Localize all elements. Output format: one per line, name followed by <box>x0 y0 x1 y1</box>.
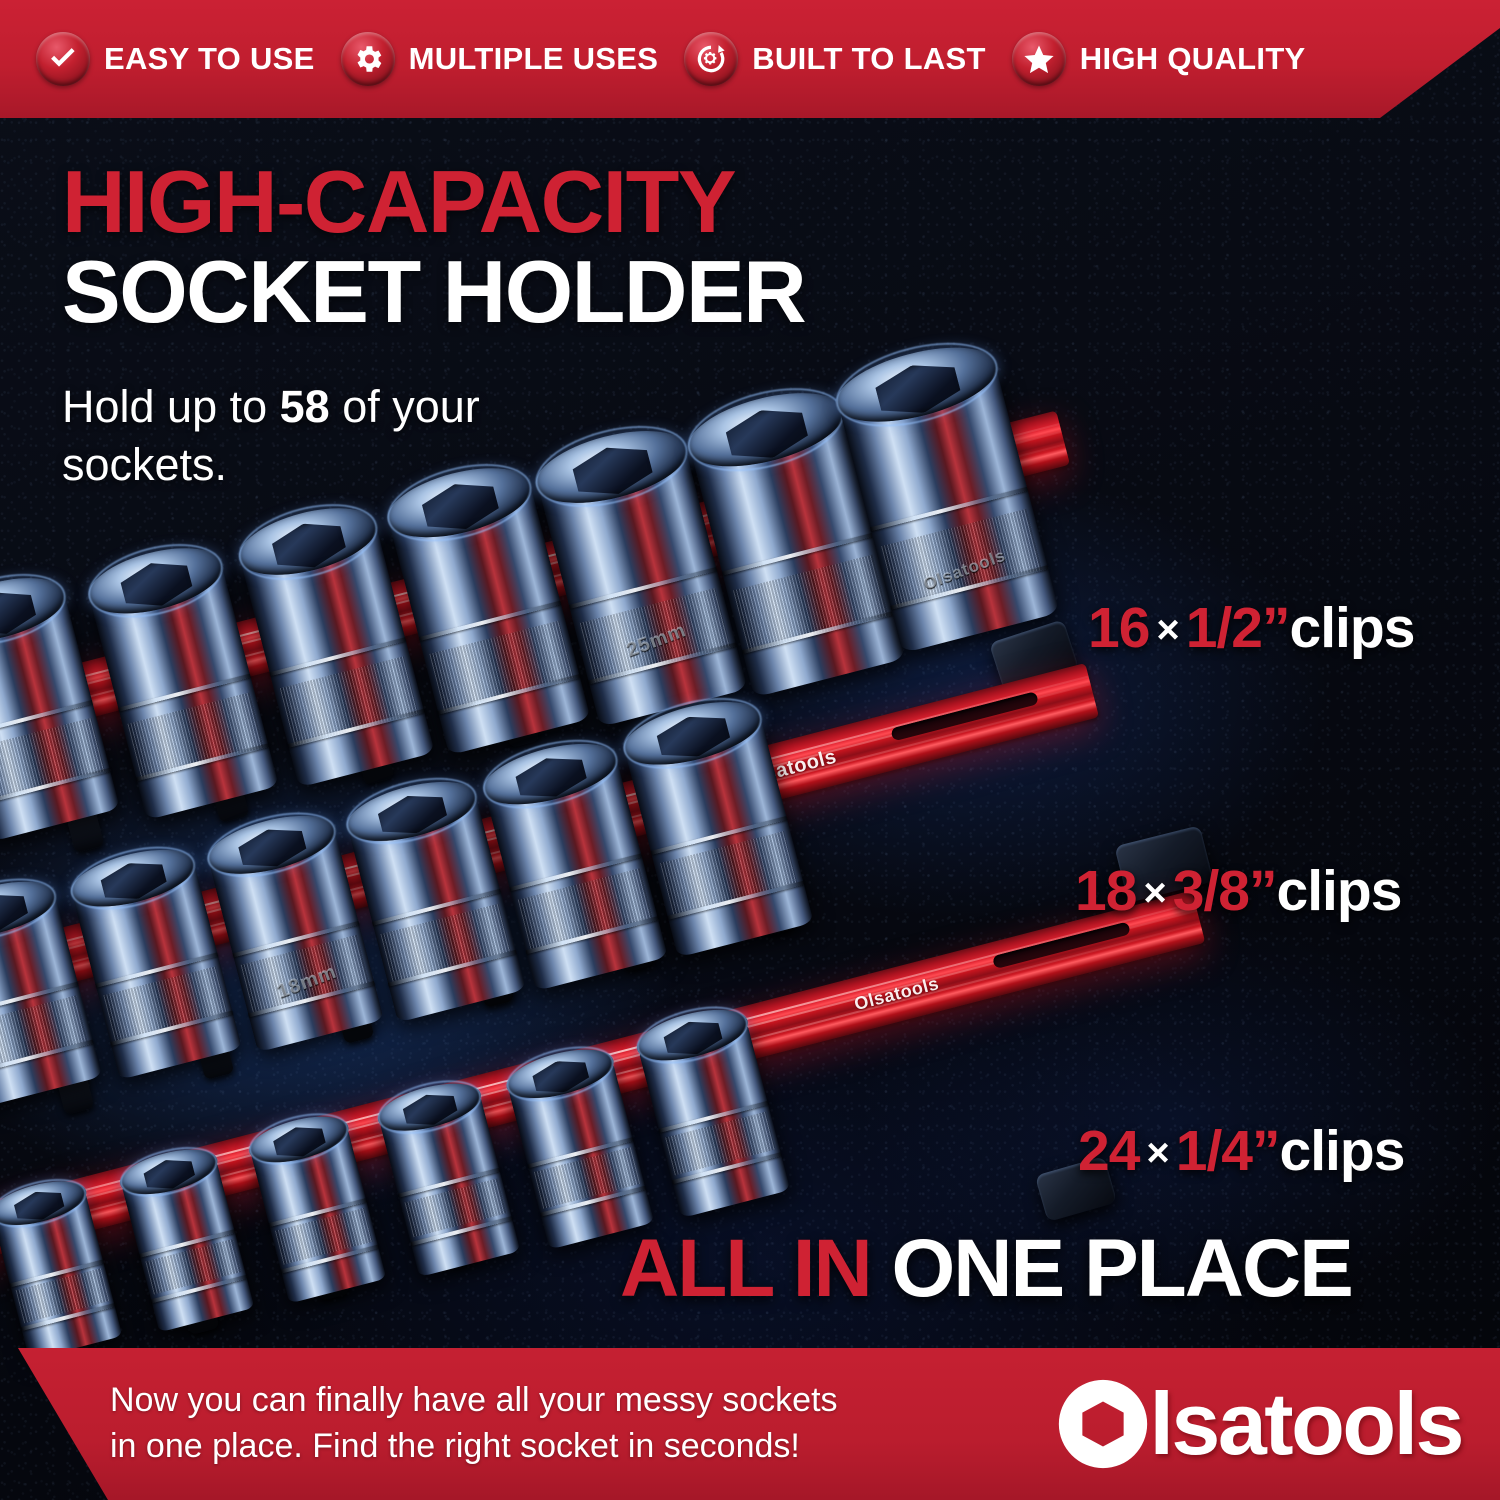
callout-count: 16 <box>1088 596 1149 660</box>
brand-logo: lsatools <box>1055 1373 1462 1475</box>
gear-icon <box>341 32 395 86</box>
feature-label: EASY TO USE <box>104 41 315 77</box>
page-title-primary: HIGH-CAPACITY <box>62 160 735 244</box>
feature-label: HIGH QUALITY <box>1080 41 1306 77</box>
feature-badge-built-to-last: BUILT TO LAST <box>684 32 986 86</box>
footer-line-2: in one place. Find the right socket in s… <box>110 1424 990 1470</box>
page-title-secondary: SOCKET HOLDER <box>62 250 805 334</box>
brand-wordmark: lsatools <box>1149 1373 1462 1475</box>
feature-badge-multiple-uses: MULTIPLE USES <box>341 32 659 86</box>
feature-badge-high-quality: HIGH QUALITY <box>1012 32 1306 86</box>
tagline: ALL IN ONE PLACE <box>620 1222 1352 1316</box>
tagline-red: ALL IN <box>620 1223 891 1314</box>
capacity-count: 58 <box>280 381 330 432</box>
footer-line-1: Now you can finally have all your messy … <box>110 1378 990 1424</box>
callout-noun: clips <box>1280 1119 1405 1183</box>
callout-noun: clips <box>1277 859 1402 923</box>
feature-label: BUILT TO LAST <box>752 41 986 77</box>
feature-badge-easy-to-use: EASY TO USE <box>36 32 315 86</box>
capacity-subtitle: Hold up to 58 of your sockets. <box>62 378 492 493</box>
callout-quarter-inch-clips: 24×1/4”clips <box>1078 1118 1404 1184</box>
tagline-white: ONE PLACE <box>891 1223 1351 1314</box>
callout-half-inch-clips: 16×1/2”clips <box>1088 595 1414 661</box>
olsatools-socket-o-icon <box>1055 1376 1151 1472</box>
callout-count: 24 <box>1078 1119 1139 1183</box>
feature-label: MULTIPLE USES <box>409 41 659 77</box>
callout-size: 1/2” <box>1186 596 1290 660</box>
callout-noun: clips <box>1290 596 1415 660</box>
durability-refresh-gear-icon <box>684 32 738 86</box>
callout-three-eighths-clips: 18×3/8”clips <box>1075 858 1401 924</box>
multiply-symbol: × <box>1149 608 1185 652</box>
multiply-symbol: × <box>1136 871 1172 915</box>
callout-count: 18 <box>1075 859 1136 923</box>
footer-description: Now you can finally have all your messy … <box>110 1378 990 1469</box>
check-circle-icon <box>36 32 90 86</box>
callout-size: 3/8” <box>1173 859 1277 923</box>
feature-banner: EASY TO USE MULTIPLE USES BUILT TO LAST <box>0 0 1500 118</box>
multiply-symbol: × <box>1139 1131 1175 1175</box>
infographic-canvas: 25mm Olsatools <box>0 0 1500 1500</box>
callout-size: 1/4” <box>1176 1119 1280 1183</box>
capacity-subtitle-prefix: Hold up to <box>62 381 280 432</box>
star-icon <box>1012 32 1066 86</box>
